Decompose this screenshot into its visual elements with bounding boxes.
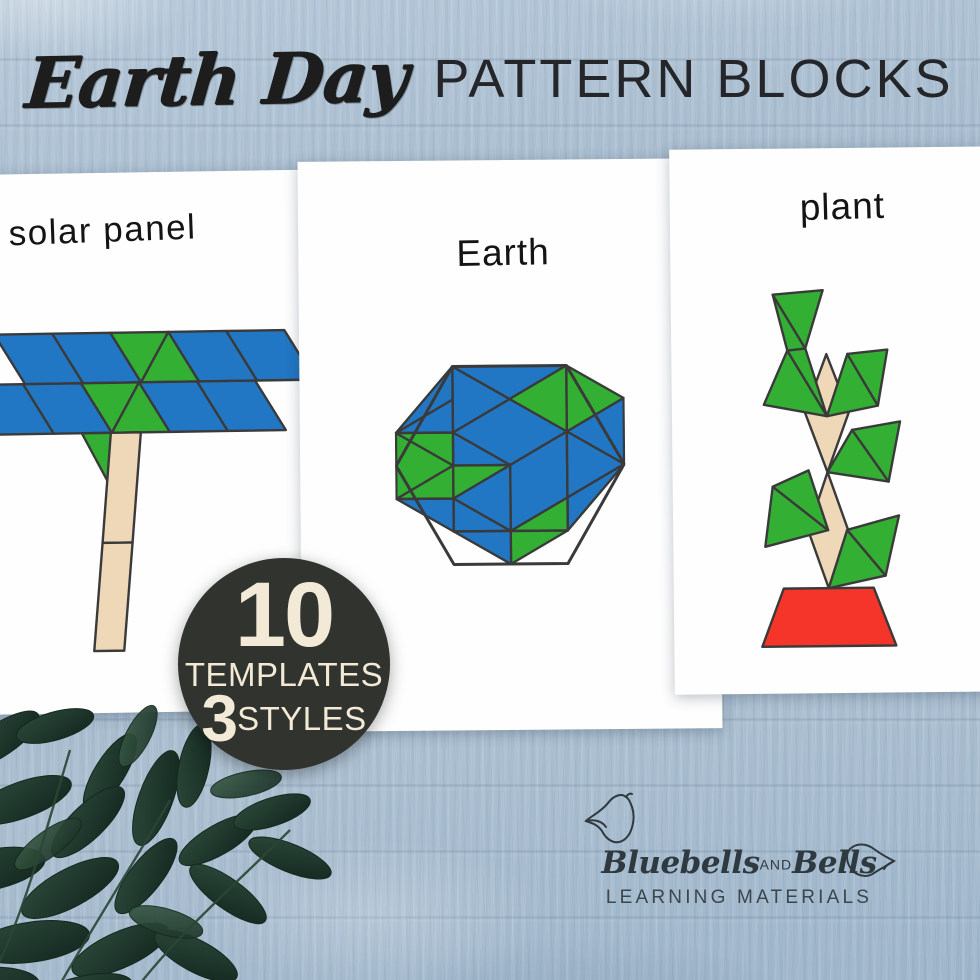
bell-icon xyxy=(840,839,896,886)
card-label-earth: Earth xyxy=(456,231,550,275)
logo-name-and: AND xyxy=(760,857,793,873)
badge-count: 10 xyxy=(235,575,333,656)
logo-name-part1: Bluebells xyxy=(601,845,759,881)
logo-tagline: LEARNING MATERIALS xyxy=(564,887,914,909)
card-label-plant: plant xyxy=(799,185,885,229)
status-badge: 10 TEMPLATES 3 STYLES xyxy=(178,558,390,770)
badge-styles-label: STYLES xyxy=(237,700,367,738)
brand-logo: BluebellsANDBells LEARNING MATERIALS xyxy=(540,795,940,935)
poster-canvas: Earth Day PATTERN BLOCKS solar panel xyxy=(0,0,980,980)
template-card-plant[interactable]: plant xyxy=(669,146,980,695)
plant-pattern-block-figure xyxy=(700,257,954,685)
page-title-plain: PATTERN BLOCKS xyxy=(433,48,953,110)
earth-hexagon-pattern-block-figure xyxy=(394,349,626,586)
badge-styles-row: 3 STYLES xyxy=(201,689,366,748)
card-label-solar-panel: solar panel xyxy=(8,207,197,254)
page-title-script: Earth Day xyxy=(23,34,412,124)
poster-header: Earth Day PATTERN BLOCKS xyxy=(0,24,980,134)
